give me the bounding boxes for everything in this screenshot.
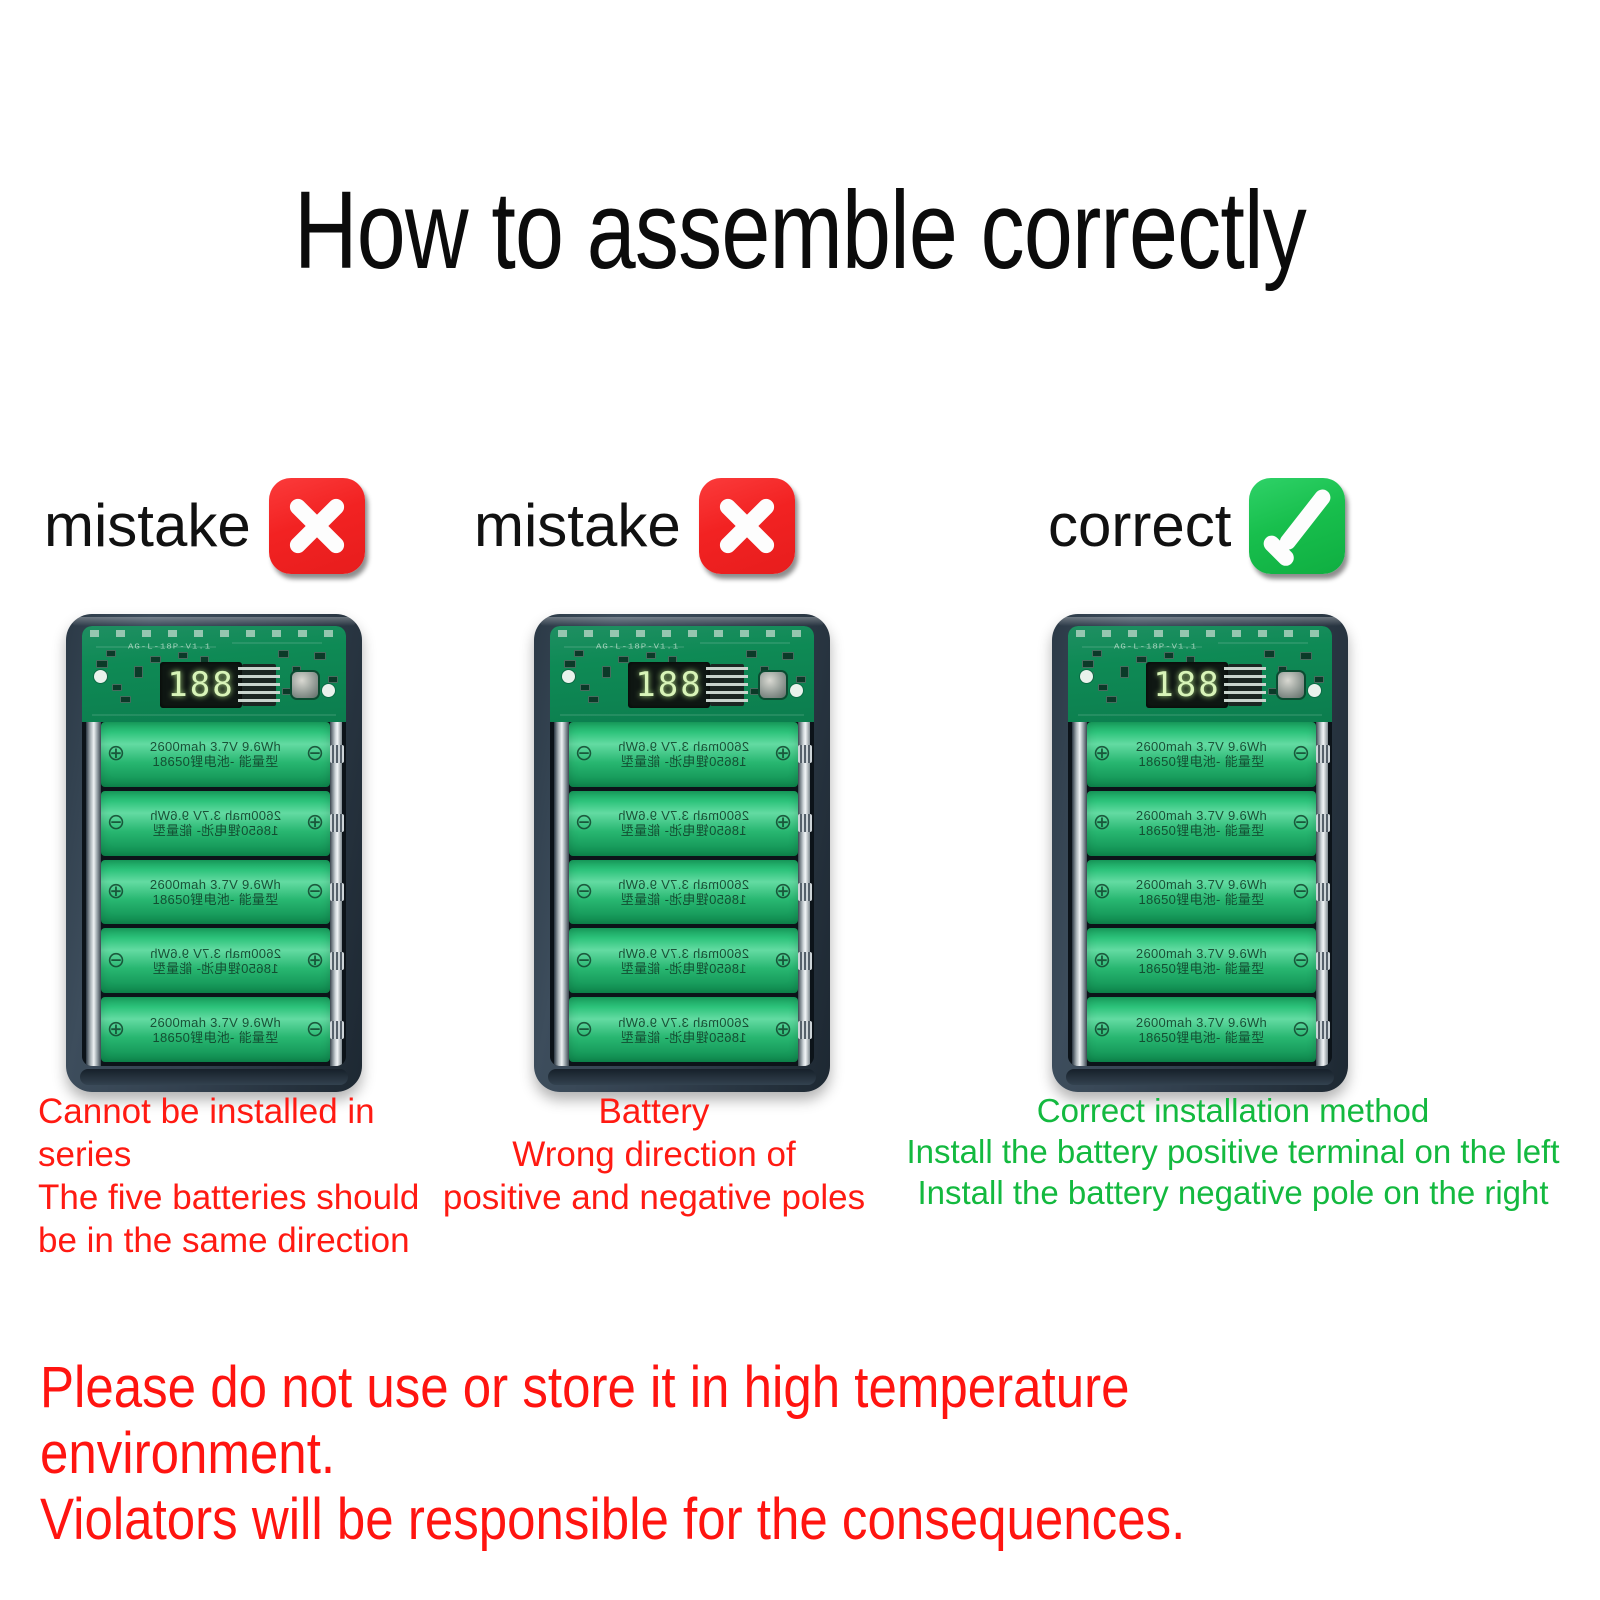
battery-label: 2600mah 3.7V 9.6Wh18650锂电池- 能量型: [131, 877, 300, 907]
battery-slot: ⊕2600mah 3.7V 9.6Wh18650锂电池- 能量型⊖: [101, 791, 330, 856]
spring-contact: [1316, 883, 1330, 901]
ic-chip: [242, 664, 276, 706]
spring-contact: [798, 952, 812, 970]
battery-cell-flipped[interactable]: ⊕2600mah 3.7V 9.6Wh18650锂电池- 能量型⊖: [569, 997, 798, 1062]
negative-terminal-icon: ⊖: [1286, 950, 1316, 972]
smd-component: [564, 660, 576, 668]
battery-label: 2600mah 3.7V 9.6Wh18650锂电池- 能量型: [599, 877, 768, 907]
pcb-trace: [564, 646, 684, 648]
battery-label-line2: 18650锂电池- 能量型: [599, 961, 768, 976]
battery-label-line2: 18650锂电池- 能量型: [599, 892, 768, 907]
battery-label-line1: 2600mah 3.7V 9.6Wh: [1117, 1015, 1286, 1030]
device-shell: AG-L-18P-V1.1188⊕2600mah 3.7V 9.6Wh18650…: [534, 614, 830, 1092]
battery-slot: ⊕2600mah 3.7V 9.6Wh18650锂电池- 能量型⊖: [101, 860, 330, 925]
smd-component: [134, 666, 143, 678]
battery-cell-normal[interactable]: ⊕2600mah 3.7V 9.6Wh18650锂电池- 能量型⊖: [1087, 997, 1316, 1062]
battery-label-line1: 2600mah 3.7V 9.6Wh: [131, 808, 300, 823]
ic-pins: [238, 667, 280, 703]
smd-component: [646, 652, 656, 659]
pcb-trace: [1082, 646, 1202, 648]
battery-slot: ⊕2600mah 3.7V 9.6Wh18650锂电池- 能量型⊖: [569, 722, 798, 787]
bottom-warning-text: Please do not use or store it in high te…: [40, 1355, 1378, 1553]
poster-root: How to assemble correctly mistake mistak…: [0, 0, 1600, 1600]
battery-slot: ⊕2600mah 3.7V 9.6Wh18650锂电池- 能量型⊖: [569, 860, 798, 925]
smd-component: [618, 656, 629, 663]
smd-component: [96, 660, 108, 668]
smd-component: [1164, 652, 1174, 659]
pcb-trace: [1218, 642, 1308, 644]
negative-terminal-icon: ⊖: [101, 812, 131, 834]
x-mark-icon: [269, 478, 365, 574]
ic-pins: [706, 667, 748, 703]
spring-contact: [330, 814, 344, 832]
negative-terminal-icon: ⊖: [1286, 1019, 1316, 1041]
negative-terminal-icon: ⊖: [569, 950, 599, 972]
battery-label-line1: 2600mah 3.7V 9.6Wh: [599, 946, 768, 961]
battery-slot: ⊕2600mah 3.7V 9.6Wh18650锂电池- 能量型⊖: [1087, 860, 1316, 925]
check-mark-icon: [1249, 478, 1345, 574]
battery-label-line2: 18650锂电池- 能量型: [131, 1030, 300, 1045]
positive-terminal-icon: ⊕: [300, 950, 330, 972]
pcb-via-hole: [562, 670, 575, 683]
positive-terminal-icon: ⊕: [101, 881, 131, 903]
battery-label-line1: 2600mah 3.7V 9.6Wh: [599, 739, 768, 754]
battery-slot: ⊕2600mah 3.7V 9.6Wh18650锂电池- 能量型⊖: [1087, 997, 1316, 1062]
spring-contact: [1316, 745, 1330, 763]
solder-pad-row: [90, 630, 338, 637]
battery-slot: ⊕2600mah 3.7V 9.6Wh18650锂电池- 能量型⊖: [101, 928, 330, 993]
left-contact-rail: [554, 722, 569, 1066]
solder-pad-row: [558, 630, 806, 637]
smd-component: [1314, 676, 1324, 683]
column-header-3: correct: [1048, 478, 1345, 574]
device-cavity: AG-L-18P-V1.1188⊕2600mah 3.7V 9.6Wh18650…: [1068, 626, 1332, 1066]
battery-label: 2600mah 3.7V 9.6Wh18650锂电池- 能量型: [1117, 877, 1286, 907]
tactile-switch-icon[interactable]: [760, 672, 786, 698]
smd-component: [1136, 656, 1147, 663]
positive-terminal-icon: ⊕: [1087, 1019, 1117, 1041]
spring-contact: [798, 814, 812, 832]
smd-component: [120, 696, 131, 703]
caption-panel-3: Correct installation method Install the …: [888, 1090, 1578, 1213]
smd-component: [278, 650, 289, 658]
page-title: How to assemble correctly: [160, 176, 1440, 286]
positive-terminal-icon: ⊕: [300, 812, 330, 834]
battery-label-line1: 2600mah 3.7V 9.6Wh: [599, 808, 768, 823]
battery-label-line2: 18650锂电池- 能量型: [1117, 961, 1286, 976]
battery-label-line1: 2600mah 3.7V 9.6Wh: [131, 739, 300, 754]
column-label-3: correct: [1048, 496, 1231, 556]
pcb-trace: [92, 714, 336, 716]
pcb-trace: [560, 714, 804, 716]
battery-label: 2600mah 3.7V 9.6Wh18650锂电池- 能量型: [599, 739, 768, 769]
battery-label-line1: 2600mah 3.7V 9.6Wh: [599, 1015, 768, 1030]
battery-slot: ⊕2600mah 3.7V 9.6Wh18650锂电池- 能量型⊖: [1087, 722, 1316, 787]
positive-terminal-icon: ⊕: [1087, 950, 1117, 972]
pcb-trace: [96, 646, 216, 648]
power-bank-device-3: AG-L-18P-V1.1188⊕2600mah 3.7V 9.6Wh18650…: [1052, 614, 1348, 1092]
positive-terminal-icon: ⊕: [768, 1019, 798, 1041]
battery-label: 2600mah 3.7V 9.6Wh18650锂电池- 能量型: [599, 1015, 768, 1045]
pcb-via-hole: [1308, 684, 1321, 697]
circuit-board: AG-L-18P-V1.1188: [1068, 626, 1332, 722]
battery-cell-flipped[interactable]: ⊕2600mah 3.7V 9.6Wh18650锂电池- 能量型⊖: [569, 860, 798, 925]
device-shell: AG-L-18P-V1.1188⊕2600mah 3.7V 9.6Wh18650…: [66, 614, 362, 1092]
battery-label-line2: 18650锂电池- 能量型: [131, 961, 300, 976]
pcb-via-hole: [1080, 670, 1093, 683]
device-cavity: AG-L-18P-V1.1188⊕2600mah 3.7V 9.6Wh18650…: [82, 626, 346, 1066]
pcb-via-hole: [322, 684, 335, 697]
battery-cell-normal[interactable]: ⊕2600mah 3.7V 9.6Wh18650锂电池- 能量型⊖: [1087, 722, 1316, 787]
circuit-board: AG-L-18P-V1.1188: [82, 626, 346, 722]
battery-label-line2: 18650锂电池- 能量型: [599, 1030, 768, 1045]
battery-label-line2: 18650锂电池- 能量型: [1117, 823, 1286, 838]
spring-contact: [1316, 814, 1330, 832]
battery-label: 2600mah 3.7V 9.6Wh18650锂电池- 能量型: [1117, 1015, 1286, 1045]
battery-label-line1: 2600mah 3.7V 9.6Wh: [1117, 739, 1286, 754]
display-value: 188: [167, 668, 234, 702]
battery-cell-flipped[interactable]: ⊕2600mah 3.7V 9.6Wh18650锂电池- 能量型⊖: [569, 722, 798, 787]
spring-contact: [798, 1021, 812, 1039]
battery-cell-normal[interactable]: ⊕2600mah 3.7V 9.6Wh18650锂电池- 能量型⊖: [1087, 791, 1316, 856]
smd-component: [574, 650, 584, 657]
smd-component: [1300, 652, 1312, 660]
smd-component: [314, 652, 326, 660]
smd-component: [1120, 666, 1129, 678]
column-label-2: mistake: [474, 496, 681, 556]
x-mark-icon: [699, 478, 795, 574]
spring-contact: [1316, 1021, 1330, 1039]
smd-component: [1264, 650, 1275, 658]
seven-segment-display: 188: [1146, 662, 1228, 708]
battery-cell-flipped[interactable]: ⊕2600mah 3.7V 9.6Wh18650锂电池- 能量型⊖: [101, 928, 330, 993]
smd-component: [602, 666, 611, 678]
battery-cell-normal[interactable]: ⊕2600mah 3.7V 9.6Wh18650锂电池- 能量型⊖: [101, 722, 330, 787]
smd-component: [178, 652, 188, 659]
battery-label-line1: 2600mah 3.7V 9.6Wh: [131, 946, 300, 961]
negative-terminal-icon: ⊖: [1286, 743, 1316, 765]
negative-terminal-icon: ⊖: [101, 950, 131, 972]
battery-label: 2600mah 3.7V 9.6Wh18650锂电池- 能量型: [131, 808, 300, 838]
smd-component: [1106, 696, 1117, 703]
smd-component: [106, 650, 116, 657]
caption-panel-1: Cannot be installed in series The five b…: [38, 1090, 468, 1262]
pcb-trace: [1078, 714, 1322, 716]
battery-slot: ⊕2600mah 3.7V 9.6Wh18650锂电池- 能量型⊖: [569, 928, 798, 993]
battery-cell-normal[interactable]: ⊕2600mah 3.7V 9.6Wh18650锂电池- 能量型⊖: [1087, 928, 1316, 993]
battery-slot: ⊕2600mah 3.7V 9.6Wh18650锂电池- 能量型⊖: [101, 722, 330, 787]
battery-slot: ⊕2600mah 3.7V 9.6Wh18650锂电池- 能量型⊖: [569, 791, 798, 856]
device-cavity: AG-L-18P-V1.1188⊕2600mah 3.7V 9.6Wh18650…: [550, 626, 814, 1066]
battery-cell-flipped[interactable]: ⊕2600mah 3.7V 9.6Wh18650锂电池- 能量型⊖: [101, 791, 330, 856]
battery-bay: ⊕2600mah 3.7V 9.6Wh18650锂电池- 能量型⊖⊕2600ma…: [550, 722, 814, 1066]
column-header-2: mistake: [474, 478, 795, 574]
smd-component: [112, 684, 122, 691]
caption-panel-2: Battery Wrong direction of positive and …: [418, 1090, 890, 1219]
battery-label-line2: 18650锂电池- 能量型: [599, 754, 768, 769]
seven-segment-display: 188: [160, 662, 242, 708]
spring-contact: [330, 952, 344, 970]
battery-label-line1: 2600mah 3.7V 9.6Wh: [599, 877, 768, 892]
circuit-board: AG-L-18P-V1.1188: [550, 626, 814, 722]
negative-terminal-icon: ⊖: [569, 812, 599, 834]
spring-contact: [330, 883, 344, 901]
smd-component: [796, 676, 806, 683]
smd-component: [580, 684, 590, 691]
battery-label: 2600mah 3.7V 9.6Wh18650锂电池- 能量型: [131, 1015, 300, 1045]
battery-label-line1: 2600mah 3.7V 9.6Wh: [1117, 946, 1286, 961]
battery-label: 2600mah 3.7V 9.6Wh18650锂电池- 能量型: [599, 946, 768, 976]
spring-contact: [330, 1021, 344, 1039]
battery-slot: ⊕2600mah 3.7V 9.6Wh18650锂电池- 能量型⊖: [569, 997, 798, 1062]
positive-terminal-icon: ⊕: [768, 743, 798, 765]
battery-slot: ⊕2600mah 3.7V 9.6Wh18650锂电池- 能量型⊖: [101, 997, 330, 1062]
smd-component: [1082, 660, 1094, 668]
smd-component: [746, 650, 757, 658]
display-value: 188: [635, 668, 702, 702]
battery-label: 2600mah 3.7V 9.6Wh18650锂电池- 能量型: [599, 808, 768, 838]
battery-label: 2600mah 3.7V 9.6Wh18650锂电池- 能量型: [131, 946, 300, 976]
power-bank-device-1: AG-L-18P-V1.1188⊕2600mah 3.7V 9.6Wh18650…: [66, 614, 362, 1092]
ic-chip: [1228, 664, 1262, 706]
battery-cell-normal[interactable]: ⊕2600mah 3.7V 9.6Wh18650锂电池- 能量型⊖: [101, 997, 330, 1062]
positive-terminal-icon: ⊕: [768, 950, 798, 972]
battery-label-line2: 18650锂电池- 能量型: [131, 754, 300, 769]
column-header-1: mistake: [44, 478, 365, 574]
battery-label-line2: 18650锂电池- 能量型: [1117, 892, 1286, 907]
left-contact-rail: [1072, 722, 1087, 1066]
spring-contact: [798, 745, 812, 763]
display-value: 188: [1153, 668, 1220, 702]
pcb-trace: [700, 642, 790, 644]
battery-bay: ⊕2600mah 3.7V 9.6Wh18650锂电池- 能量型⊖⊕2600ma…: [1068, 722, 1332, 1066]
ic-pins: [1224, 667, 1266, 703]
positive-terminal-icon: ⊕: [1087, 743, 1117, 765]
pcb-trace: [232, 642, 322, 644]
power-bank-device-2: AG-L-18P-V1.1188⊕2600mah 3.7V 9.6Wh18650…: [534, 614, 830, 1092]
positive-terminal-icon: ⊕: [1087, 812, 1117, 834]
negative-terminal-icon: ⊖: [1286, 812, 1316, 834]
battery-cell-flipped[interactable]: ⊕2600mah 3.7V 9.6Wh18650锂电池- 能量型⊖: [569, 791, 798, 856]
negative-terminal-icon: ⊖: [1286, 881, 1316, 903]
battery-label-line1: 2600mah 3.7V 9.6Wh: [1117, 877, 1286, 892]
negative-terminal-icon: ⊖: [300, 1019, 330, 1041]
negative-terminal-icon: ⊖: [569, 881, 599, 903]
battery-label-line1: 2600mah 3.7V 9.6Wh: [131, 877, 300, 892]
positive-terminal-icon: ⊕: [768, 812, 798, 834]
battery-label: 2600mah 3.7V 9.6Wh18650锂电池- 能量型: [1117, 808, 1286, 838]
battery-label-line2: 18650锂电池- 能量型: [599, 823, 768, 838]
spring-contact: [330, 745, 344, 763]
battery-cell-flipped[interactable]: ⊕2600mah 3.7V 9.6Wh18650锂电池- 能量型⊖: [569, 928, 798, 993]
battery-label-line2: 18650锂电池- 能量型: [1117, 754, 1286, 769]
battery-cell-normal[interactable]: ⊕2600mah 3.7V 9.6Wh18650锂电池- 能量型⊖: [1087, 860, 1316, 925]
battery-label: 2600mah 3.7V 9.6Wh18650锂电池- 能量型: [1117, 739, 1286, 769]
tactile-switch-icon[interactable]: [292, 672, 318, 698]
column-label-1: mistake: [44, 496, 251, 556]
smd-component: [150, 656, 161, 663]
spring-contact: [798, 883, 812, 901]
tactile-switch-icon[interactable]: [1278, 672, 1304, 698]
positive-terminal-icon: ⊕: [768, 881, 798, 903]
negative-terminal-icon: ⊖: [569, 1019, 599, 1041]
battery-bay: ⊕2600mah 3.7V 9.6Wh18650锂电池- 能量型⊖⊕2600ma…: [82, 722, 346, 1066]
smd-component: [588, 696, 599, 703]
device-shell: AG-L-18P-V1.1188⊕2600mah 3.7V 9.6Wh18650…: [1052, 614, 1348, 1092]
negative-terminal-icon: ⊖: [300, 743, 330, 765]
battery-label: 2600mah 3.7V 9.6Wh18650锂电池- 能量型: [1117, 946, 1286, 976]
battery-slot: ⊕2600mah 3.7V 9.6Wh18650锂电池- 能量型⊖: [1087, 791, 1316, 856]
ic-chip: [710, 664, 744, 706]
smd-component: [328, 676, 338, 683]
battery-label-line1: 2600mah 3.7V 9.6Wh: [1117, 808, 1286, 823]
pcb-via-hole: [790, 684, 803, 697]
battery-label: 2600mah 3.7V 9.6Wh18650锂电池- 能量型: [131, 739, 300, 769]
positive-terminal-icon: ⊕: [101, 743, 131, 765]
smd-component: [1092, 650, 1102, 657]
positive-terminal-icon: ⊕: [1087, 881, 1117, 903]
left-contact-rail: [86, 722, 101, 1066]
negative-terminal-icon: ⊖: [569, 743, 599, 765]
battery-cell-normal[interactable]: ⊕2600mah 3.7V 9.6Wh18650锂电池- 能量型⊖: [101, 860, 330, 925]
battery-label-line2: 18650锂电池- 能量型: [1117, 1030, 1286, 1045]
solder-pad-row: [1076, 630, 1324, 637]
battery-label-line1: 2600mah 3.7V 9.6Wh: [131, 1015, 300, 1030]
smd-component: [782, 652, 794, 660]
battery-label-line2: 18650锂电池- 能量型: [131, 823, 300, 838]
negative-terminal-icon: ⊖: [300, 881, 330, 903]
pcb-via-hole: [94, 670, 107, 683]
positive-terminal-icon: ⊕: [101, 1019, 131, 1041]
battery-label-line2: 18650锂电池- 能量型: [131, 892, 300, 907]
smd-component: [1098, 684, 1108, 691]
battery-slot: ⊕2600mah 3.7V 9.6Wh18650锂电池- 能量型⊖: [1087, 928, 1316, 993]
seven-segment-display: 188: [628, 662, 710, 708]
spring-contact: [1316, 952, 1330, 970]
